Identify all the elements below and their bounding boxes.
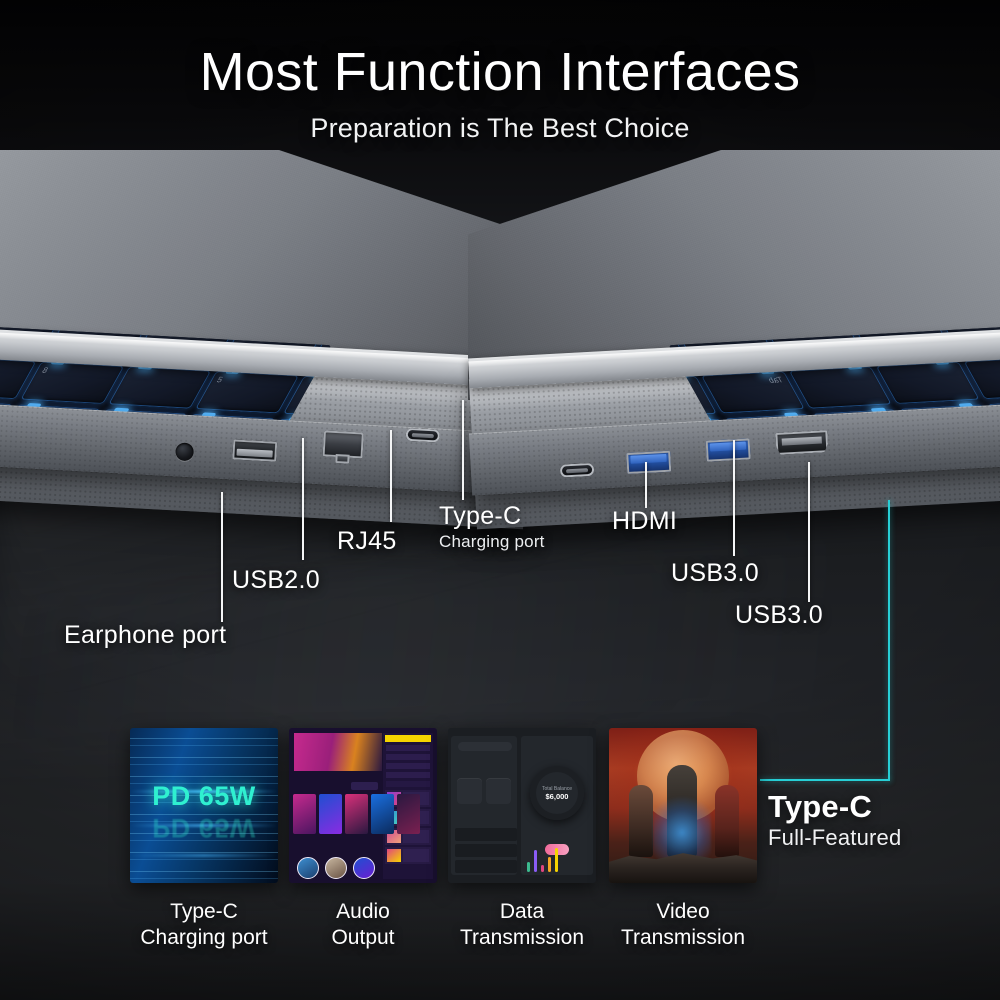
playlist-row (386, 754, 430, 760)
avatar (353, 857, 375, 879)
product-image-stage: Home7+485PgUp936PgDn (0, 0, 1000, 1000)
bar (534, 850, 537, 872)
label-earphone-port: Earphone port (64, 622, 226, 650)
right-pane: Total Balance $6,000 (521, 736, 593, 875)
playlist-row (386, 772, 430, 778)
keycap (108, 366, 211, 408)
header: Most Function Interfaces Preparation is … (0, 44, 1000, 144)
avatar-row (297, 857, 375, 879)
support-card (385, 847, 431, 864)
playlist-row-highlighted (385, 735, 431, 742)
bar (541, 865, 544, 872)
feature-item-audio[interactable]: Audio Output (289, 728, 437, 950)
port-type-c-charging (406, 428, 441, 443)
label-usb3-first: USB3.0 (671, 560, 759, 588)
keycap (789, 366, 892, 408)
thumbnail-data-dashboard: Total Balance $6,000 (448, 728, 596, 883)
port-usb3-second (626, 451, 671, 474)
port-rj45 (323, 430, 364, 458)
playlist-row (386, 763, 430, 769)
feature-caption-audio: Audio Output (289, 899, 437, 950)
thumbnail-game-art (609, 728, 757, 883)
port-hdmi (775, 430, 828, 455)
album-card (397, 794, 420, 834)
bar (548, 857, 551, 872)
keycap (876, 361, 979, 403)
album-card (293, 794, 316, 834)
label-usb2: USB2.0 (232, 567, 320, 595)
transaction-row (455, 828, 517, 841)
balance-value: $6,000 (546, 792, 569, 801)
keycap-legend: 8 (41, 366, 51, 375)
label-usb3-second: USB3.0 (735, 602, 823, 630)
bar (555, 848, 558, 872)
balance-ring: Total Balance $6,000 (530, 766, 584, 820)
port-usb3-first (706, 438, 751, 461)
thumbnail-pd65w: PD 65W PD 65W (130, 728, 278, 883)
feature-item-video[interactable]: Video Transmission (609, 728, 757, 950)
album-card (319, 794, 342, 834)
feature-caption-charging: Type-C Charging port (130, 899, 278, 950)
keycap: 8 (21, 361, 124, 403)
typec-callout-title: Type-C (768, 789, 901, 825)
search-field[interactable] (458, 742, 512, 751)
playlist-row (386, 745, 430, 751)
feature-item-data[interactable]: Total Balance $6,000 Data Transmission (448, 728, 596, 950)
bar (527, 862, 530, 872)
pd-wattage-text: PD 65W (130, 781, 278, 812)
character-right (715, 785, 739, 857)
page-title: Most Function Interfaces (0, 44, 1000, 101)
callout-typec-full-featured: Type-C Full-Featured (768, 789, 901, 851)
hero-banner (294, 733, 382, 771)
pd-wattage-reflection: PD 65W (130, 812, 278, 843)
typec-callout-subtitle: Full-Featured (768, 825, 901, 851)
keycap-legend: Tab (766, 375, 785, 384)
label-rj45: RJ45 (337, 528, 397, 556)
feature-caption-video: Video Transmission (609, 899, 757, 950)
bar-chart (527, 846, 558, 872)
feature-caption-data: Data Transmission (448, 899, 596, 950)
page-subtitle: Preparation is The Best Choice (0, 113, 1000, 144)
avatar (297, 857, 319, 879)
laptop-right: EscTab (508, 150, 1000, 570)
port-usb2 (232, 439, 277, 461)
keycap-legend: 5 (215, 375, 225, 384)
label-typec-charging: Type-C Charging port (439, 503, 545, 552)
album-card-row (293, 794, 420, 834)
album-card (371, 794, 394, 834)
stat-tile (486, 778, 511, 804)
magic-effect (653, 793, 711, 859)
character-left (629, 785, 653, 857)
playlist-row (386, 781, 430, 787)
label-hdmi: HDMI (612, 508, 677, 536)
transaction-row (455, 860, 517, 873)
sort-pill (351, 782, 378, 790)
glow-line (130, 854, 278, 857)
stat-tile (457, 778, 482, 804)
keycap: 5 (195, 371, 298, 413)
transaction-row (455, 844, 517, 857)
thumbnail-audio-ui (289, 728, 437, 883)
laptop-left: Home7+485PgUp936PgDn (0, 150, 492, 570)
avatar (325, 857, 347, 879)
port-type-c-full (560, 463, 595, 478)
keycap: Tab (701, 371, 804, 413)
left-pane (451, 736, 517, 875)
feature-item-charging[interactable]: PD 65W PD 65W Type-C Charging port (130, 728, 278, 950)
album-card (345, 794, 368, 834)
